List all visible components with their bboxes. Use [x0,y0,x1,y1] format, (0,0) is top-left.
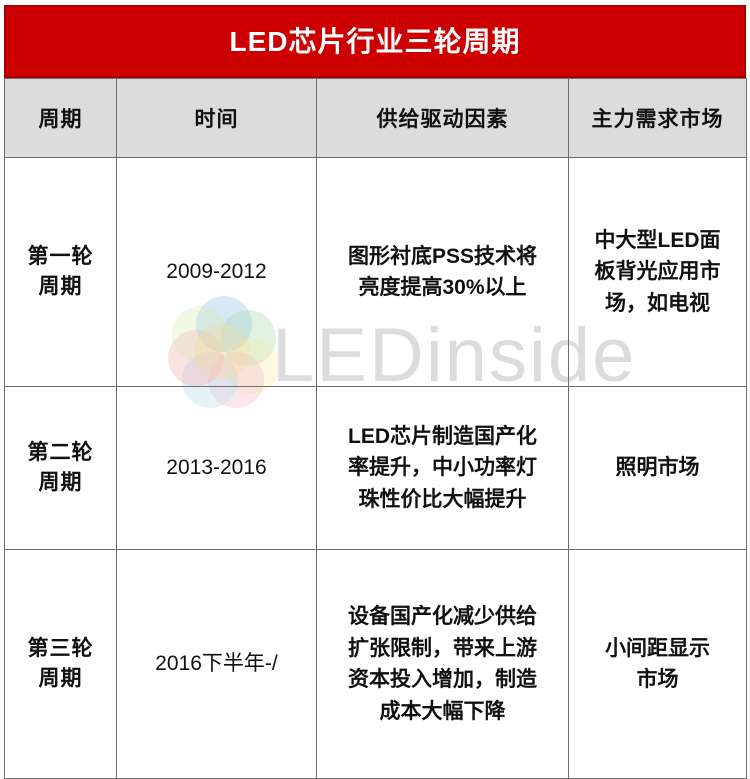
column-header-cycle: 周期 [5,79,117,158]
table-row: 第一轮周期 2009-2012 图形衬底PSS技术将亮度提高30%以上 中大型L… [5,158,747,387]
column-header-driver: 供给驱动因素 [317,79,569,158]
cell-cycle-1: 第一轮周期 [5,158,117,387]
column-header-market: 主力需求市场 [569,79,747,158]
table-row: 第三轮周期 2016下半年-/ 设备国产化减少供给扩张限制，带来上游资本投入增加… [5,550,747,779]
table-header-row: 周期 时间 供给驱动因素 主力需求市场 [5,79,747,158]
cell-time-1: 2009-2012 [117,158,317,387]
table-body: 第一轮周期 2009-2012 图形衬底PSS技术将亮度提高30%以上 中大型L… [5,158,747,779]
cell-time-2: 2013-2016 [117,387,317,550]
cell-market-1: 中大型LED面板背光应用市场，如电视 [569,158,747,387]
page-title: LED芯片行业三轮周期 [229,28,520,56]
cell-driver-1: 图形衬底PSS技术将亮度提高30%以上 [317,158,569,387]
figure-title-banner: LED芯片行业三轮周期 [4,5,746,78]
led-chip-cycle-table: 周期 时间 供给驱动因素 主力需求市场 第一轮周期 2009-2012 图形衬底… [4,78,747,779]
table-row: 第二轮周期 2013-2016 LED芯片制造国产化率提升，中小功率灯珠性价比大… [5,387,747,550]
cell-time-3: 2016下半年-/ [117,550,317,779]
table-figure: LEDinside LED芯片行业三轮周期 周期 时间 供给驱动因素 主力需求市… [0,0,750,678]
cell-market-3: 小间距显示市场 [569,550,747,779]
cell-driver-2: LED芯片制造国产化率提升，中小功率灯珠性价比大幅提升 [317,387,569,550]
cell-cycle-3: 第三轮周期 [5,550,117,779]
column-header-time: 时间 [117,79,317,158]
cell-driver-3: 设备国产化减少供给扩张限制，带来上游资本投入增加，制造成本大幅下降 [317,550,569,779]
cell-cycle-2: 第二轮周期 [5,387,117,550]
table-header: 周期 时间 供给驱动因素 主力需求市场 [5,79,747,158]
cell-market-2: 照明市场 [569,387,747,550]
